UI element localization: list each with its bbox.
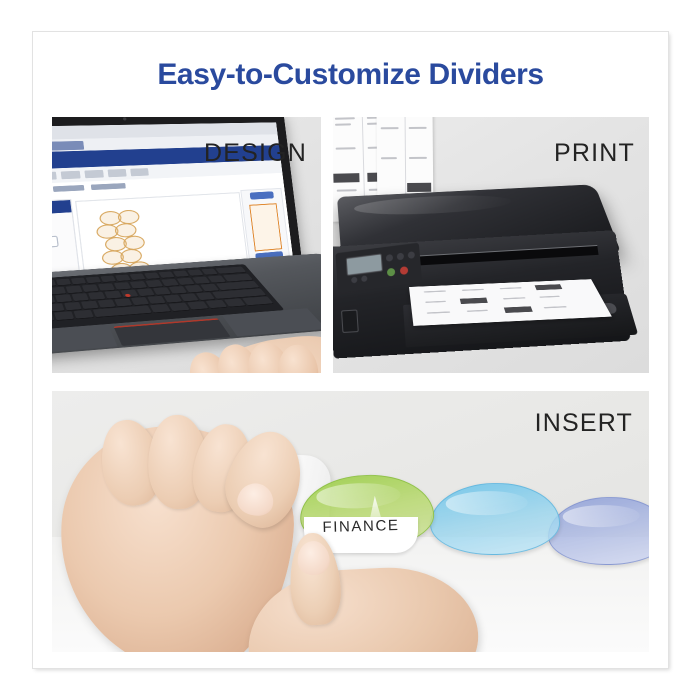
- panel-label-design: DESIGN: [204, 139, 307, 168]
- panel-insert: FINANCE INSERT: [52, 391, 649, 652]
- page-title: Easy-to-Customize Dividers: [33, 58, 668, 92]
- form-select[interactable]: [52, 236, 59, 249]
- tab-highlight: [563, 504, 640, 528]
- printer-power-button[interactable]: [341, 309, 359, 333]
- form-header-bar: [52, 200, 72, 219]
- divider-tab-purple: [547, 496, 649, 566]
- printer-control-panel: [335, 243, 422, 294]
- browser-tab: [52, 141, 84, 151]
- laptop-webcam: [122, 117, 126, 120]
- printer-button[interactable]: [386, 254, 394, 262]
- printer-button[interactable]: [397, 253, 405, 261]
- panel-label-print: PRINT: [554, 139, 635, 168]
- tab-highlight: [316, 482, 401, 509]
- finance-label-text: FINANCE: [304, 517, 418, 537]
- laptop-touchpad[interactable]: [113, 318, 230, 346]
- side-panel-chip[interactable]: [250, 191, 274, 199]
- product-image-card: Easy-to-Customize Dividers: [33, 32, 668, 668]
- panel-design: DESIGN: [52, 117, 321, 373]
- panel-print: PRINT: [333, 117, 649, 373]
- template-thumbnail[interactable]: [249, 203, 282, 251]
- laptop-palmrest-left: [52, 324, 118, 354]
- printer-start-button[interactable]: [387, 268, 396, 277]
- divider-tab-blue: [429, 482, 560, 556]
- thumbnail-top: [235, 480, 276, 518]
- printer-button[interactable]: [351, 277, 357, 284]
- printer-lcd-display: [346, 253, 383, 275]
- trackpoint-nub[interactable]: [125, 294, 132, 297]
- tab-highlight: [446, 490, 528, 515]
- panel-label-insert: INSERT: [535, 409, 633, 438]
- printer-stop-button[interactable]: [400, 266, 409, 275]
- printer-button[interactable]: [361, 275, 367, 282]
- fingernail: [296, 540, 330, 576]
- printer-button[interactable]: [408, 251, 416, 259]
